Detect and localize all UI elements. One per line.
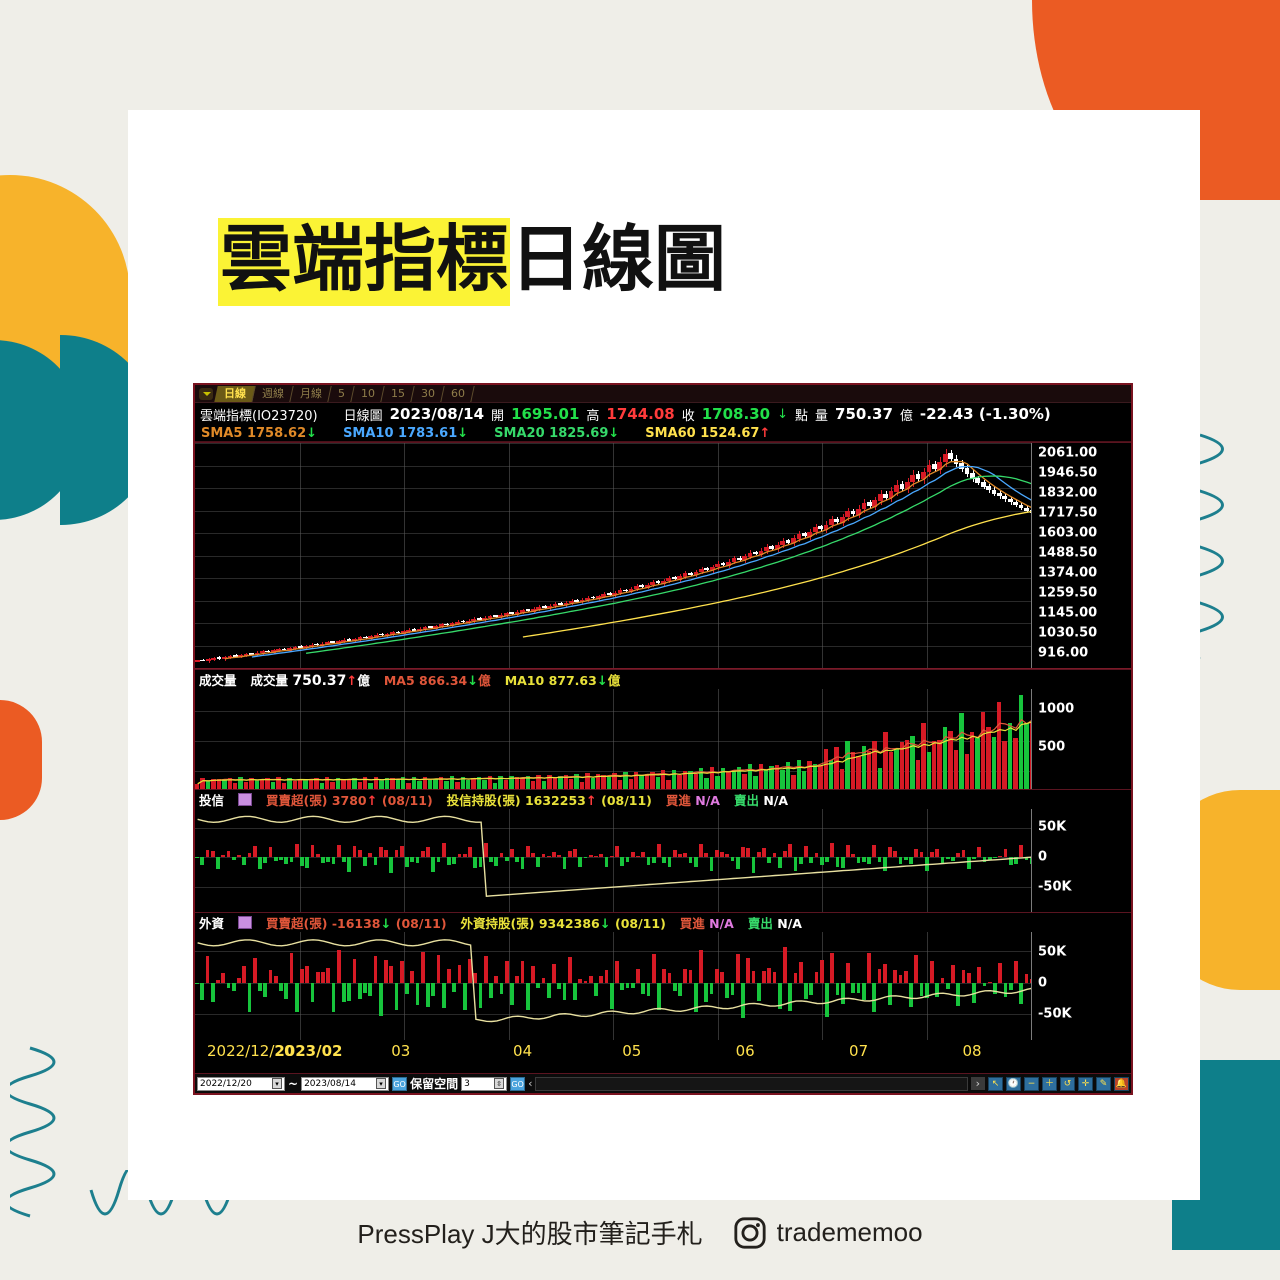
price-plot[interactable]: 2061.001946.501832.001717.501603.001488.… [195,443,1131,669]
axis-tick-label: 1603.00 [1038,526,1097,541]
volume-plot-area[interactable] [195,689,1031,789]
axis-tick-label: 50K [1038,820,1066,835]
close-value: 1708.30 [702,405,770,423]
axis-tick-label: 916.00 [1038,646,1088,661]
sma60-name: SMA60 [645,426,695,441]
trust-panel-header: 投信 買賣超(張) 3780↑ (08/11) 投信持股(張) 1632253↑… [195,790,1131,809]
page-title-rest: 日線圖 [510,218,726,306]
foreign-panel-header: 外資 買賣超(張) -16138↓ (08/11) 外資持股(張) 934238… [195,913,1131,932]
high-label: 高 [586,405,599,424]
volume-panel-header: 成交量 成交量 750.37↑億 MA5 866.34↓億 MA10 877.6… [195,670,1131,689]
symbol-label: 雲端指標(IO23720) [200,405,318,424]
x-axis-tick-label: 06 [736,1042,755,1060]
reserve-space-input[interactable]: 3 ⇳ [461,1077,507,1091]
trust-buy: 買進 N/A [666,790,720,809]
foreign-panel: 外資 買賣超(張) -16138↓ (08/11) 外資持股(張) 934238… [195,912,1131,1040]
axis-tick-label: 1374.00 [1038,566,1097,581]
decor-squiggle-left [10,1040,120,1230]
volume-ma10-label: MA10 [505,673,545,688]
sma60-legend: SMA60 1524.67↑ [645,426,770,441]
sma-legend-bar: SMA5 1758.62↓ SMA10 1783.61↓ SMA20 1825.… [195,425,1131,442]
trust-net-label: 買賣超(張) [266,793,327,808]
trust-net-date: (08/11) [382,793,433,808]
x-axis-tick-label: 08 [962,1042,981,1060]
volume-ma5-value: 866.34 [419,673,467,688]
open-label: 開 [491,405,504,424]
stepper-icon[interactable]: ⇳ [494,1078,504,1089]
axis-tick-label: 2061.00 [1038,446,1097,461]
foreign-net-value: -16138 [332,916,381,931]
scroll-right-arrow-icon[interactable]: › [971,1077,985,1090]
volume-current: 成交量 750.37↑億 [251,670,370,689]
foreign-net: 買賣超(張) -16138↓ (08/11) [266,913,447,932]
axis-tick-label: -50K [1038,1007,1072,1022]
reserve-go-button[interactable]: GO [510,1077,525,1091]
pencil-icon[interactable]: ✎ [1096,1077,1111,1091]
tab-label: 30 [421,387,435,401]
foreign-net-label: 買賣超(張) [266,916,327,931]
chevron-down-icon[interactable]: ▾ [376,1078,386,1089]
volume-ma10-value: 877.63 [549,673,597,688]
charting-app-window: 日線 週線 月線 5 10 15 30 60 雲端指標(IO23720) 日線圖… [193,383,1133,1095]
tab-label: 週線 [262,387,284,401]
tab-label: 15 [391,387,405,401]
foreign-holdings-label: 外資持股(張) [461,916,535,931]
footer: PressPlay J大的股市筆記手札 tradememoo [0,1214,1280,1251]
scroll-left-arrow-icon[interactable]: ‹ [528,1077,532,1090]
axis-tick-label: 1000 [1038,702,1074,717]
holdings-line [195,932,1031,1040]
trust-sell: 賣出 N/A [734,790,788,809]
foreign-buy-value: N/A [709,916,734,931]
page-title-highlight: 雲端指標 [218,218,510,306]
volume-plot[interactable]: 1000500 [195,689,1131,789]
bell-icon[interactable]: 🔔 [1114,1077,1129,1091]
volume-ma5-unit: 億 [478,673,491,688]
foreign-axis: 50K0-50K [1031,932,1131,1040]
decor-teal-circle [0,340,84,520]
cursor-icon[interactable]: ↖ [988,1077,1003,1091]
axis-tick-label: 0 [1038,976,1047,991]
foreign-net-date: (08/11) [396,916,447,931]
price-panel: 2061.001946.501832.001717.501603.001488.… [195,442,1131,669]
trust-net-value: 3780 [332,793,367,808]
trust-holdings: 投信持股(張) 1632253↑ (08/11) [447,790,652,809]
price-plot-area[interactable] [195,443,1031,668]
volume-unit-label: 億 [900,405,913,424]
foreign-sell-label: 賣出 [748,916,773,931]
foreign-plot-area[interactable] [195,932,1031,1040]
tab-30min[interactable]: 30 [411,386,444,402]
foreign-sell: 賣出 N/A [748,913,802,932]
sma10-legend: SMA10 1783.61↓ [343,426,468,441]
tab-label: 5 [338,387,345,401]
volume-label: 量 [815,405,828,424]
volume-ma5-arrow-down-icon: ↓ [467,674,478,689]
tab-15min[interactable]: 15 [381,386,414,402]
volume-panel: 成交量 成交量 750.37↑億 MA5 866.34↓億 MA10 877.6… [195,669,1131,789]
foreign-buy: 買進 N/A [680,913,734,932]
chevron-down-icon[interactable] [199,388,213,400]
volume-current-value: 750.37 [292,673,346,689]
trust-sell-label: 賣出 [734,793,759,808]
instagram-icon [733,1216,767,1250]
change-value: -22.43 (-1.30%) [920,405,1051,423]
sma20-legend: SMA20 1825.69↓ [494,426,619,441]
axis-tick-label: 1030.50 [1038,626,1097,641]
axis-tick-label: 1488.50 [1038,546,1097,561]
quote-date: 2023/08/14 [390,405,484,423]
axis-tick-label: 500 [1038,740,1065,755]
clock-icon[interactable]: 🕐 [1006,1077,1021,1091]
trust-list-icon[interactable] [238,793,252,806]
trust-holdings-label: 投信持股(張) [447,793,521,808]
foreign-holdings-date: (08/11) [615,916,666,931]
trust-buy-value: N/A [695,793,720,808]
volume-ma-lines [195,689,1031,789]
volume-arrow-up-icon: ↑ [346,674,357,689]
volume-ma10-arrow-down-icon: ↓ [597,674,608,689]
foreign-sell-value: N/A [777,916,802,931]
sma20-name: SMA20 [494,426,544,441]
high-value: 1744.08 [606,405,674,423]
tab-weekly[interactable]: 週線 [252,386,293,402]
decor-orange-left-shape [0,700,42,820]
price-axis: 2061.001946.501832.001717.501603.001488.… [1031,443,1131,668]
axis-tick-label: 1832.00 [1038,486,1097,501]
trust-plot-area[interactable] [195,809,1031,912]
date-from-value: 2022/12/20 [200,1077,252,1091]
axis-tick-label: 1717.50 [1038,506,1097,521]
trust-holdings-value: 1632253 [525,793,586,808]
chart-type-label: 日線圖 [344,405,383,424]
date-go-button[interactable]: GO [392,1077,407,1091]
trust-net: 買賣超(張) 3780↑ (08/11) [266,790,433,809]
plus-icon[interactable]: ＋ [1042,1077,1057,1091]
date-to-input[interactable]: 2023/08/14 ▾ [301,1077,389,1091]
sma5-arrow-down-icon: ↓ [306,426,317,441]
tab-label: 月線 [300,387,322,401]
trust-panel: 投信 買賣超(張) 3780↑ (08/11) 投信持股(張) 1632253↑… [195,789,1131,912]
volume-ma5-label: MA5 [384,673,415,688]
trust-panel-title: 投信 [199,790,224,809]
sma5-name: SMA5 [201,426,242,441]
sma60-arrow-up-icon: ↑ [759,426,770,441]
foreign-holdings-value: 9342386 [539,916,600,931]
sma10-value: 1783.61 [398,426,457,441]
trust-holdings-date: (08/11) [601,793,652,808]
foreign-list-icon[interactable] [238,916,252,929]
reserve-space-label: 保留空間 [410,1075,458,1092]
tab-10min[interactable]: 10 [351,386,384,402]
axis-tick-label: 1946.50 [1038,466,1097,481]
volume-axis: 1000500 [1031,689,1131,789]
foreign-holdings: 外資持股(張) 9342386↓ (08/11) [461,913,666,932]
volume-value: 750.37 [835,405,893,423]
x-axis-tick-label: 04 [513,1042,532,1060]
volume-current-unit: 億 [357,673,370,688]
volume-ma5: MA5 866.34↓億 [384,670,491,689]
tab-label: 日線 [224,387,246,401]
x-axis-tick-label: 2023/02 [274,1042,342,1060]
tab-daily[interactable]: 日線 [214,386,255,402]
date-range-separator: ~ [288,1077,298,1091]
quote-bar: 雲端指標(IO23720) 日線圖 2023/08/14 開 1695.01 高… [195,403,1131,425]
x-axis-tick-label: 05 [622,1042,641,1060]
volume-current-label: 成交量 [251,673,289,688]
decor-squiggle-right [1190,430,1280,660]
reserve-space-value: 3 [464,1077,470,1091]
axis-tick-label: 1145.00 [1038,606,1097,621]
axis-tick-label: 50K [1038,945,1066,960]
moving-average-lines [195,443,1031,668]
open-value: 1695.01 [511,405,579,423]
foreign-net-arrow-down-icon: ↓ [381,917,392,932]
minus-icon[interactable]: − [1024,1077,1039,1091]
sma5-legend: SMA5 1758.62↓ [201,426,317,441]
tab-label: 60 [451,387,465,401]
x-axis-tick-label: 03 [391,1042,410,1060]
tab-monthly[interactable]: 月線 [290,386,331,402]
sma5-value: 1758.62 [247,426,306,441]
sma10-name: SMA10 [343,426,393,441]
foreign-plot[interactable]: 50K0-50K [195,932,1131,1040]
holdings-line [195,809,1031,912]
axis-tick-label: 1259.50 [1038,586,1097,601]
sma20-value: 1825.69 [549,426,608,441]
x-axis: 2022/12/202023/02030405060708 [195,1040,1131,1064]
crosshair-icon[interactable]: ✛ [1078,1077,1093,1091]
volume-ma10-unit: 億 [608,673,621,688]
x-axis-tick-label: 07 [849,1042,868,1060]
volume-panel-title: 成交量 [199,670,237,689]
chevron-down-icon[interactable]: ▾ [272,1078,282,1089]
trust-buy-label: 買進 [666,793,691,808]
date-to-value: 2023/08/14 [304,1077,356,1091]
foreign-buy-label: 買進 [680,916,705,931]
page-title: 雲端指標 日線圖 [218,218,726,306]
horizontal-scrollbar[interactable] [535,1077,967,1091]
tab-60min[interactable]: 60 [441,386,474,402]
sma60-value: 1524.67 [700,426,759,441]
decor-yellow-left-shape [0,175,130,465]
footer-handle: tradememoo [777,1217,923,1248]
date-from-input[interactable]: 2022/12/20 ▾ [197,1077,285,1091]
axis-tick-label: -50K [1038,880,1072,895]
foreign-panel-title: 外資 [199,913,224,932]
foreign-holdings-arrow-down-icon: ↓ [600,917,611,932]
footer-brand: PressPlay J大的股市筆記手札 [357,1214,702,1251]
point-unit-label: 點 [795,405,808,424]
trust-axis: 50K0-50K [1031,809,1131,912]
close-arrow-down-icon: ↓ [777,407,788,422]
bottom-toolbar: 2022/12/20 ▾ ~ 2023/08/14 ▾ GO 保留空間 3 ⇳ … [195,1073,1131,1093]
trust-plot[interactable]: 50K0-50K [195,809,1131,912]
close-label: 收 [682,405,695,424]
tab-label: 10 [361,387,375,401]
trust-sell-value: N/A [763,793,788,808]
volume-ma10: MA10 877.63↓億 [505,670,621,689]
sma10-arrow-down-icon: ↓ [457,426,468,441]
timeframe-tabbar: 日線 週線 月線 5 10 15 30 60 [195,385,1131,403]
sma20-arrow-down-icon: ↓ [608,426,619,441]
trust-holdings-arrow-up-icon: ↑ [586,794,597,809]
axis-tick-label: 0 [1038,850,1047,865]
trust-net-arrow-up-icon: ↑ [367,794,378,809]
undo-icon[interactable]: ↺ [1060,1077,1075,1091]
